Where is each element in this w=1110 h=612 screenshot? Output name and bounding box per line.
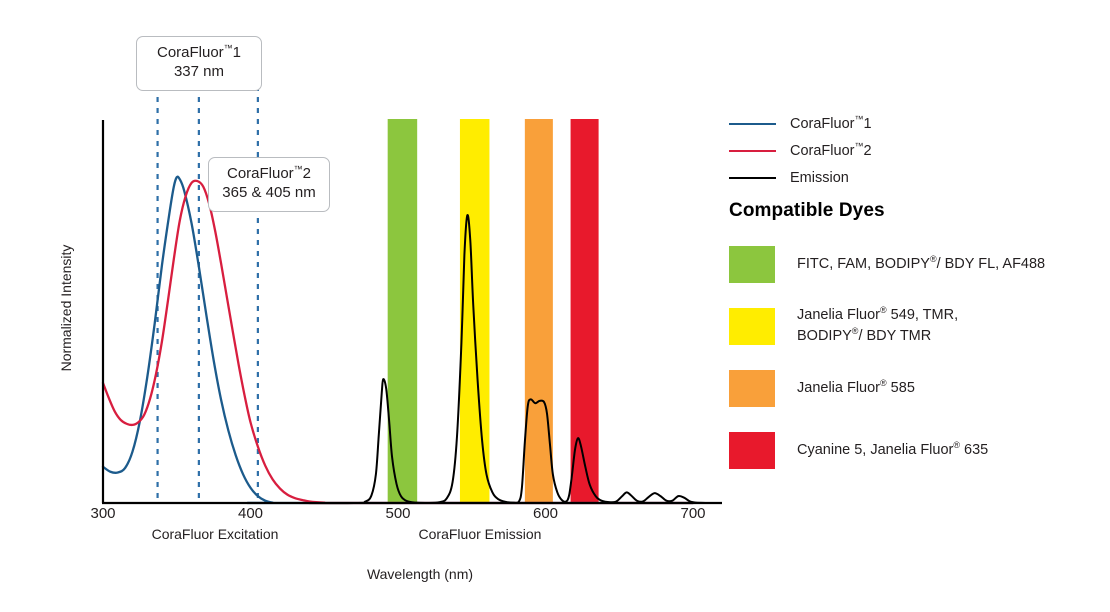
- legend-item-label: CoraFluor™1: [790, 116, 872, 132]
- x-axis-sublabel-emission: CoraFluor Emission: [385, 526, 575, 542]
- dye-color-swatch: [729, 246, 775, 283]
- legend-item-0[interactable]: CoraFluor™1: [729, 110, 1104, 137]
- dye-item-label: Janelia Fluor® 549, TMR,BODIPY®/ BDY TMR: [797, 305, 958, 346]
- registered-symbol: ®: [930, 254, 937, 264]
- dye-label-line: Cyanine 5, Janelia Fluor® 635: [797, 440, 988, 461]
- dye-color-swatch: [729, 432, 775, 469]
- legend-item-1[interactable]: CoraFluor™2: [729, 137, 1104, 164]
- green-band: [388, 119, 418, 503]
- dye-label-line: Janelia Fluor® 549, TMR,: [797, 305, 958, 326]
- x-axis-sublabel-excitation: CoraFluor Excitation: [120, 526, 310, 542]
- dye-color-swatch: [729, 370, 775, 407]
- dye-item-label: Cyanine 5, Janelia Fluor® 635: [797, 440, 988, 461]
- registered-symbol: ®: [880, 306, 887, 316]
- callout-cf1-name: CoraFluor: [157, 44, 224, 61]
- legend-item-label: CoraFluor™2: [790, 143, 872, 159]
- callout-cf1-wavelength: 337 nm: [149, 63, 249, 82]
- emission-band-overlays: [388, 119, 599, 503]
- x-tick-500: 500: [368, 505, 428, 522]
- legend-item-label: Emission: [790, 170, 849, 186]
- callout-cf2-name: CoraFluor: [227, 165, 294, 182]
- trademark-symbol: ™: [224, 43, 233, 53]
- yellow-band: [460, 119, 490, 503]
- trademark-symbol: ™: [854, 141, 863, 151]
- y-axis-title: Normalized Intensity: [58, 218, 74, 398]
- curve-emission: [280, 215, 708, 503]
- registered-symbol: ®: [953, 440, 960, 450]
- dye-item-1[interactable]: Janelia Fluor® 549, TMR,BODIPY®/ BDY TMR: [729, 295, 1104, 357]
- callout-cf2-line1: CoraFluor™2: [221, 165, 317, 184]
- dye-item-label: FITC, FAM, BODIPY®/ BDY FL, AF488: [797, 254, 1045, 275]
- dye-label-line: Janelia Fluor® 585: [797, 378, 915, 399]
- orange-band: [525, 119, 553, 503]
- dye-label-line: FITC, FAM, BODIPY®/ BDY FL, AF488: [797, 254, 1045, 275]
- legend-line-swatch: [729, 177, 776, 179]
- dye-color-swatch: [729, 308, 775, 345]
- trademark-symbol: ™: [854, 114, 863, 124]
- dye-item-label: Janelia Fluor® 585: [797, 378, 915, 399]
- x-tick-600: 600: [516, 505, 576, 522]
- x-axis-title: Wavelength (nm): [310, 566, 530, 582]
- callout-corafluor-1: CoraFluor™1 337 nm: [136, 36, 262, 91]
- legend-line-swatch: [729, 150, 776, 152]
- callout-cf1-index: 1: [233, 44, 241, 61]
- dye-item-2[interactable]: Janelia Fluor® 585: [729, 357, 1104, 419]
- callout-cf1-line1: CoraFluor™1: [149, 44, 249, 63]
- registered-symbol: ®: [880, 378, 887, 388]
- registered-symbol: ®: [852, 326, 859, 336]
- compatible-dyes-heading: Compatible Dyes: [729, 200, 885, 222]
- x-tick-400: 400: [221, 505, 281, 522]
- legend-item-2[interactable]: Emission: [729, 164, 1104, 191]
- legend-line-swatch: [729, 123, 776, 125]
- dye-label-line: BODIPY®/ BDY TMR: [797, 326, 958, 347]
- dye-item-3[interactable]: Cyanine 5, Janelia Fluor® 635: [729, 419, 1104, 481]
- callout-corafluor-2: CoraFluor™2 365 & 405 nm: [208, 157, 330, 212]
- callout-cf2-index: 2: [303, 165, 311, 182]
- dye-item-0[interactable]: FITC, FAM, BODIPY®/ BDY FL, AF488: [729, 233, 1104, 295]
- excitation-marker-lines: [158, 86, 258, 503]
- x-tick-700: 700: [663, 505, 723, 522]
- compatible-dyes-list: FITC, FAM, BODIPY®/ BDY FL, AF488Janelia…: [729, 233, 1104, 481]
- series-legend: CoraFluor™1CoraFluor™2Emission: [729, 110, 1104, 191]
- trademark-symbol: ™: [294, 164, 303, 174]
- callout-cf2-wavelength: 365 & 405 nm: [221, 184, 317, 203]
- x-tick-300: 300: [73, 505, 133, 522]
